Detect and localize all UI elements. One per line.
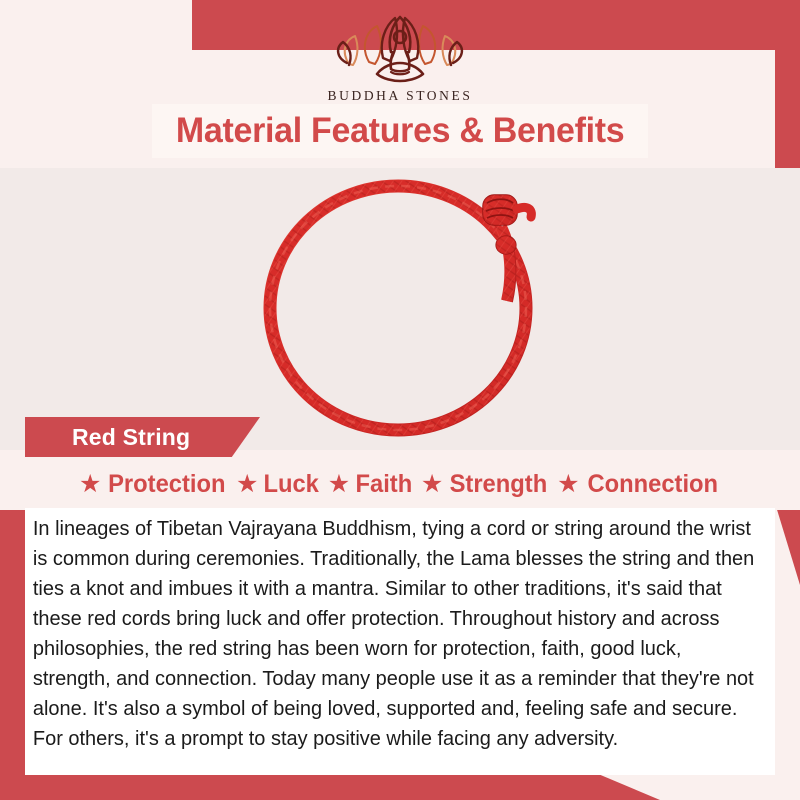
page-title: Material Features & Benefits	[176, 111, 624, 151]
feature-item-connection: ★ Connection	[557, 470, 721, 499]
description-panel: In lineages of Tibetan Vajrayana Buddhis…	[25, 508, 775, 775]
feature-item-luck: ★ Luck	[236, 470, 321, 499]
red-string-bracelet-illustration	[255, 165, 555, 440]
product-image	[255, 165, 555, 440]
star-icon: ★	[236, 472, 258, 497]
star-icon: ★	[557, 472, 579, 497]
feature-label: Strength	[450, 470, 548, 499]
lotus-meditation-icon	[325, 8, 475, 86]
feature-item-faith: ★ Faith	[328, 470, 414, 499]
feature-item-protection: ★ Protection	[79, 470, 229, 499]
product-name-banner: Red String	[25, 417, 260, 457]
frame-bottom-bar	[0, 775, 660, 800]
brand-name: BUDDHA STONES	[0, 88, 800, 104]
brand-logo: BUDDHA STONES	[0, 8, 800, 104]
feature-list: ★ Protection ★ Luck ★ Faith ★ Strength ★…	[25, 463, 775, 505]
cord-knot-lower	[496, 236, 516, 254]
feature-label: Luck	[264, 470, 319, 499]
product-name-label: Red String	[72, 424, 190, 451]
title-banner: Material Features & Benefits	[152, 104, 648, 158]
star-icon: ★	[79, 472, 101, 497]
adjustable-knot	[483, 195, 517, 225]
feature-label: Faith	[356, 470, 413, 499]
star-icon: ★	[421, 472, 443, 497]
feature-label: Connection	[587, 470, 718, 499]
description-text: In lineages of Tibetan Vajrayana Buddhis…	[25, 514, 764, 754]
infographic-poster: BUDDHA STONES Material Features & Benefi…	[0, 0, 800, 800]
feature-label: Protection	[108, 470, 225, 499]
feature-item-strength: ★ Strength	[421, 470, 550, 499]
star-icon: ★	[328, 472, 350, 497]
